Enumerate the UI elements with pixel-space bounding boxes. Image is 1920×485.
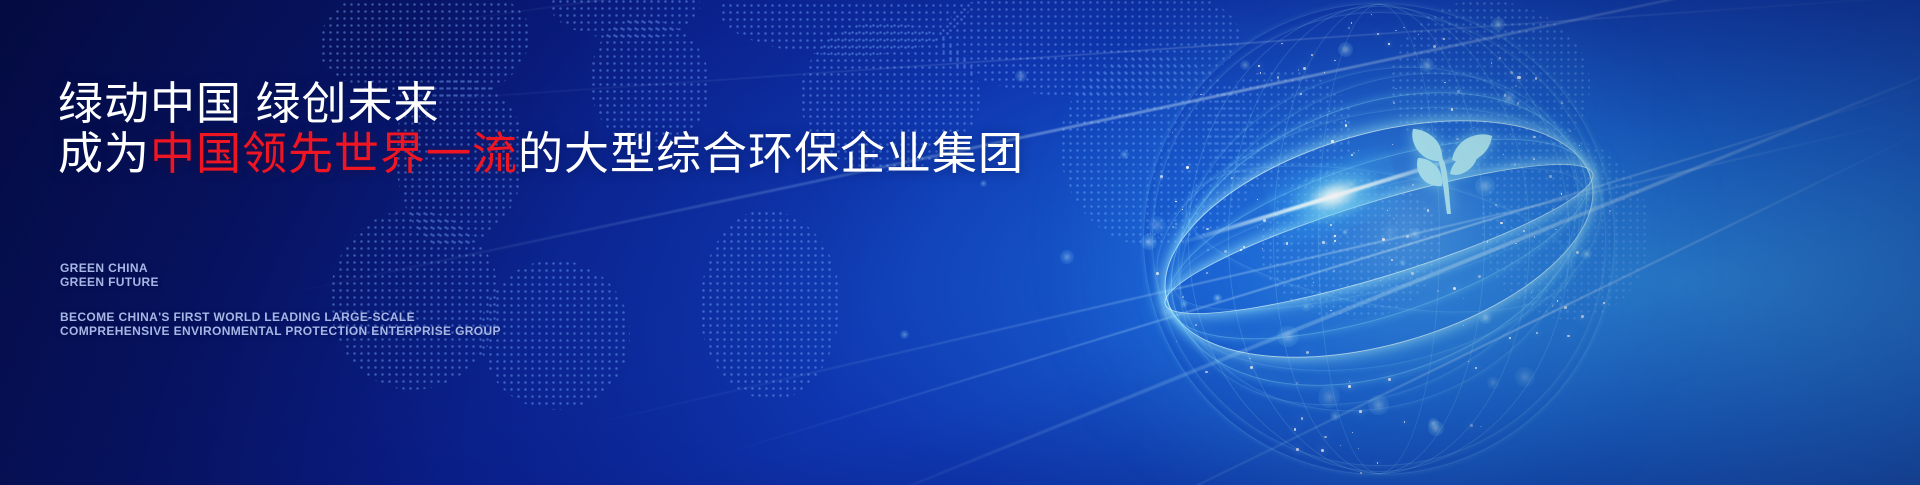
background-vignette bbox=[0, 0, 1920, 485]
hero-banner: 绿动中国 绿创未来 成为中国领先世界一流的大型综合环保企业集团 GREEN CH… bbox=[0, 0, 1920, 485]
